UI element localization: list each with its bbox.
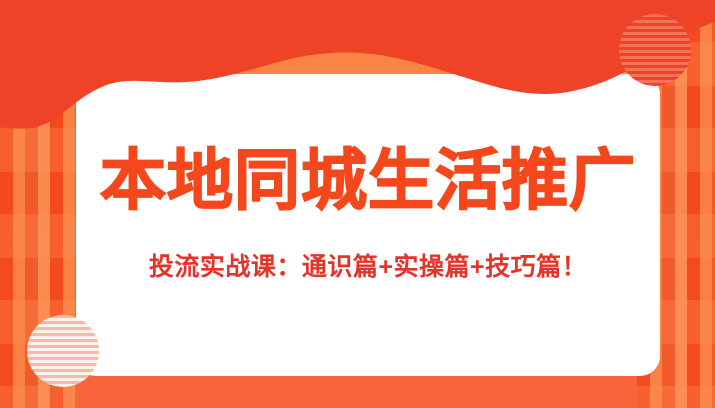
poster-subtitle: 投流实战课：通识篇+实操篇+技巧篇！ (149, 252, 587, 282)
promo-poster: 本地同城生活推广 投流实战课：通识篇+实操篇+技巧篇！ (0, 0, 715, 408)
poster-title: 本地同城生活推广 (100, 146, 636, 216)
poster-text-block: 本地同城生活推广 投流实战课：通识篇+实操篇+技巧篇！ (76, 74, 660, 376)
top-light-band (0, 0, 715, 82)
